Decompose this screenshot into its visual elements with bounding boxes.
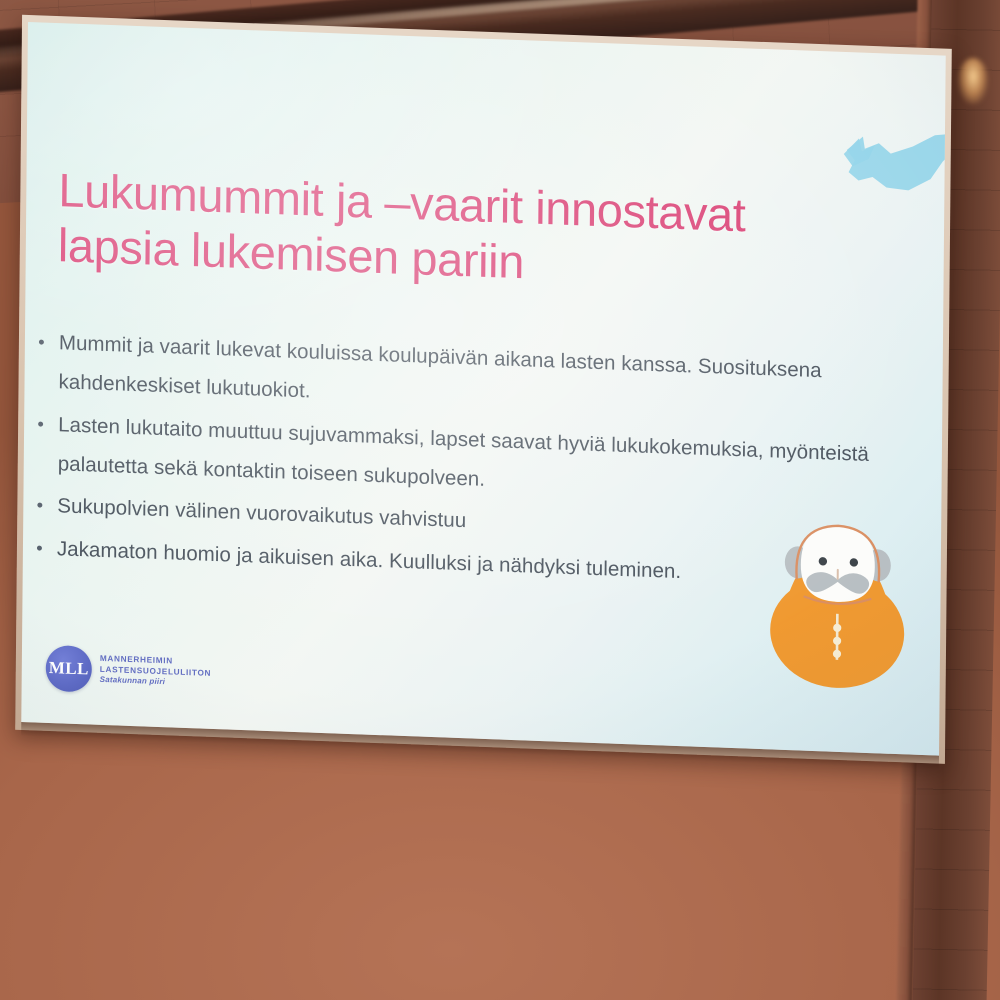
cat-silhouette-icon [838,114,946,218]
grandpa-mascot-illustration [752,507,924,693]
presentation-slide: Lukumummit ja –vaarit innostavat lapsia … [21,22,945,756]
mll-logo-mark-text: MLL [49,658,89,679]
bullet-dot-icon [38,421,43,426]
bullet-dot-icon [37,503,42,508]
lamp-glow [958,58,988,104]
projection-screen: Lukumummit ja –vaarit innostavat lapsia … [21,22,945,756]
photo-scene: Lukumummit ja –vaarit innostavat lapsia … [0,0,1000,1000]
bullet-dot-icon [37,545,42,550]
bullet-text: Sukupolvien välinen vuorovaikutus vahvis… [57,495,466,533]
slide-title: Lukumummit ja –vaarit innostavat lapsia … [58,163,899,303]
mll-logo-text: MANNERHEIMIN LASTENSUOJELULIITON Satakun… [100,654,212,689]
bullet-dot-icon [39,339,44,344]
mll-logo: MLL MANNERHEIMIN LASTENSUOJELULIITON Sat… [46,645,212,697]
bullet-text: Mummit ja vaarit lukevat kouluissa koulu… [58,331,821,403]
mll-logo-mark-icon: MLL [46,645,92,693]
